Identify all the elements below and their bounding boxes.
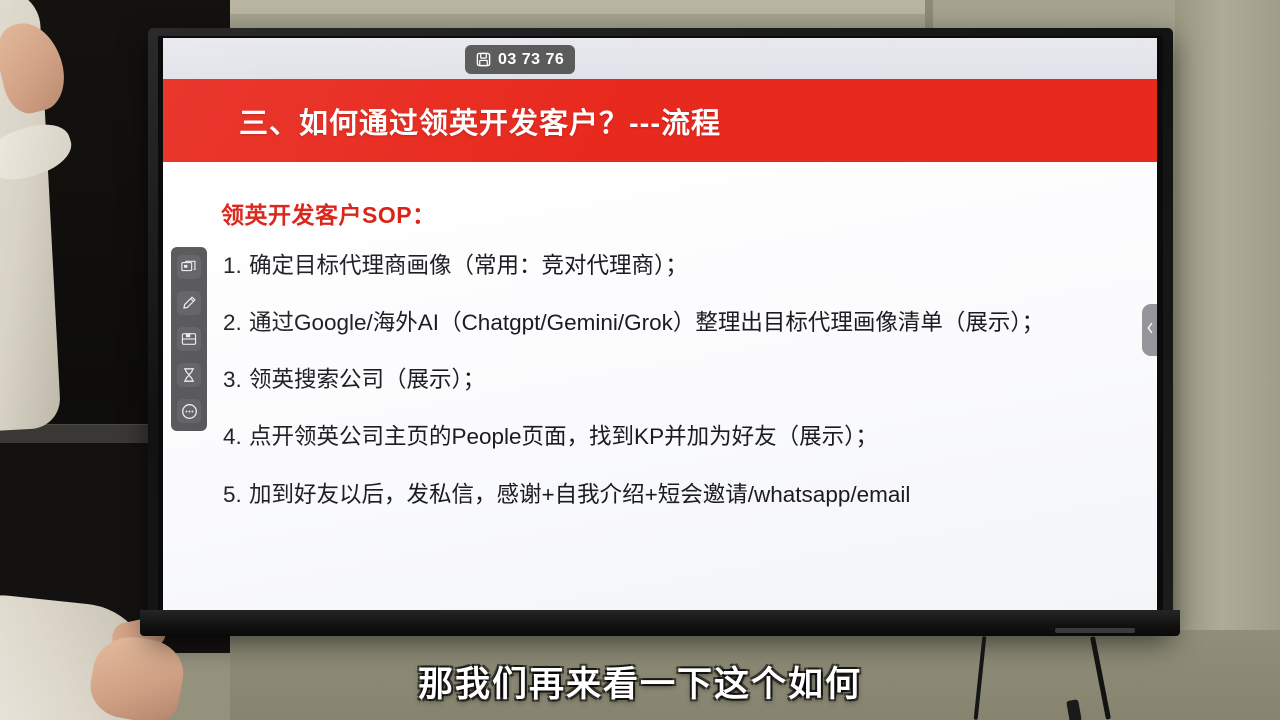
floating-toolbar[interactable] (171, 247, 207, 431)
display-screen[interactable]: 03 73 76 三、如何通过领英开发客户？---流程 领英开发客户SOP： 1… (163, 38, 1157, 610)
save-badge-text: 03 73 76 (498, 51, 564, 69)
toolbar-button-save[interactable] (177, 327, 201, 351)
sop-heading: 领英开发客户SOP： (221, 196, 1127, 230)
list-item-number: 5. (223, 481, 249, 509)
list-item: 3. 领英搜索公司（展示）； (223, 366, 1127, 394)
list-item: 5. 加到好友以后，发私信，感谢+自我介绍+短会邀请/whatsapp/emai… (223, 481, 1127, 509)
slide-title: 三、如何通过领英开发客户？---流程 (239, 100, 721, 142)
toolbar-button-more[interactable] (177, 399, 201, 423)
screen-top-strip (163, 38, 1157, 79)
save-card-icon (181, 331, 197, 347)
pen-icon (181, 295, 197, 311)
display-port-row (1055, 628, 1135, 633)
toolbar-button-switch-window[interactable] (177, 255, 201, 279)
slide-content-body: 领英开发客户SOP： 1. 确定目标代理商画像（常用：竞对代理商）； 2. 通过… (163, 162, 1157, 610)
wall-seam (925, 0, 933, 30)
screenshot-stage: 03 73 76 三、如何通过领英开发客户？---流程 领英开发客户SOP： 1… (0, 0, 1280, 720)
list-item-text: 通过Google/海外AI（Chatgpt/Gemini/Grok）整理出目标代… (249, 309, 1044, 337)
list-item-text: 领英搜索公司（展示）； (249, 366, 485, 394)
list-item-text: 点开领英公司主页的People页面，找到KP并加为好友（展示）； (249, 423, 878, 451)
list-item-number: 1. (223, 252, 249, 280)
list-item: 2. 通过Google/海外AI（Chatgpt/Gemini/Grok）整理出… (223, 309, 1127, 337)
toolbar-button-annotate[interactable] (177, 291, 201, 315)
list-item-text: 加到好友以后，发私信，感谢+自我介绍+短会邀请/whatsapp/email (249, 481, 910, 509)
chevron-left-icon (1146, 321, 1154, 339)
toolbar-button-timer[interactable] (177, 363, 201, 387)
list-item: 4. 点开领英公司主页的People页面，找到KP并加为好友（展示）； (223, 423, 1127, 451)
ceiling-strip (230, 0, 930, 14)
save-icon (476, 52, 491, 67)
save-status-badge[interactable]: 03 73 76 (465, 45, 575, 74)
room-wall-right-column (1175, 0, 1280, 720)
sop-list: 1. 确定目标代理商画像（常用：竞对代理商）； 2. 通过Google/海外AI… (223, 252, 1127, 509)
list-item-number: 3. (223, 366, 249, 394)
list-item-number: 4. (223, 423, 249, 451)
video-caption: 那我们再来看一下这个如何 (0, 656, 1280, 707)
windows-switch-icon (181, 259, 197, 275)
list-item-text: 确定目标代理商画像（常用：竞对代理商）； (249, 252, 688, 280)
list-item-number: 2. (223, 309, 249, 337)
sidebar-expand-handle[interactable] (1142, 304, 1157, 356)
display-bottom-bar (140, 610, 1180, 636)
hourglass-icon (181, 367, 197, 383)
list-item: 1. 确定目标代理商画像（常用：竞对代理商）； (223, 252, 1127, 280)
slide-title-bar: 三、如何通过领英开发客户？---流程 (163, 79, 1157, 162)
more-options-icon (181, 403, 198, 420)
